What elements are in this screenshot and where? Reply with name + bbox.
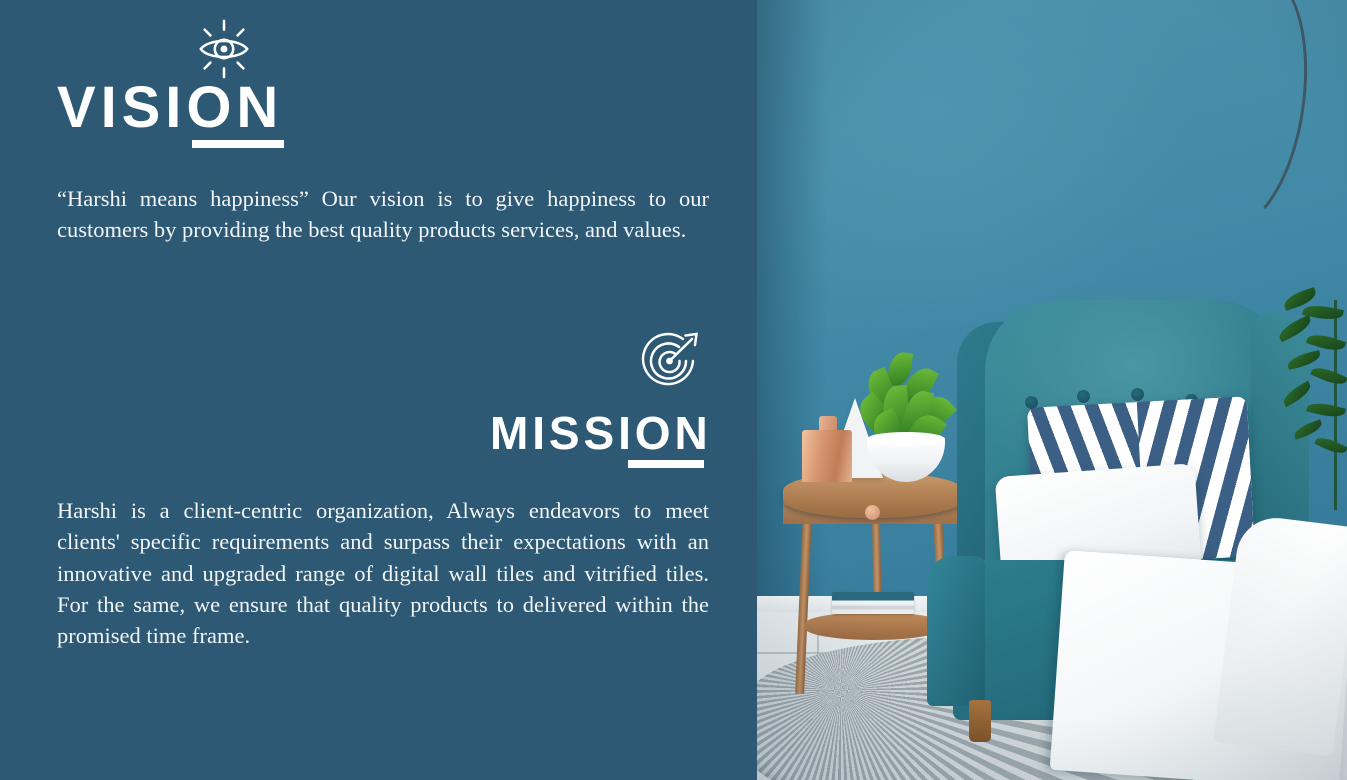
copper-vase bbox=[802, 430, 852, 482]
table-lower-shelf bbox=[805, 612, 943, 640]
drawer-knob bbox=[865, 505, 880, 520]
chair-arm bbox=[927, 556, 985, 706]
text-panel: VISION “Harshi means happiness” Our visi… bbox=[0, 0, 757, 780]
mission-underline-rule bbox=[628, 460, 704, 468]
plant-pot-rim bbox=[867, 432, 945, 446]
potted-plant-foliage bbox=[861, 352, 953, 444]
vision-heading-group: VISION bbox=[0, 0, 757, 160]
interior-room-photo bbox=[757, 0, 1347, 780]
mission-body-text: Harshi is a client-centric organization,… bbox=[57, 495, 709, 651]
vision-title: VISION bbox=[57, 79, 283, 137]
vision-body-text: “Harshi means happiness” Our vision is t… bbox=[57, 183, 709, 246]
chair-leg bbox=[969, 700, 991, 742]
vision-section: VISION “Harshi means happiness” Our visi… bbox=[0, 0, 757, 160]
stacked-books bbox=[832, 592, 914, 614]
mission-title: MISSION bbox=[490, 410, 712, 456]
ficus-plant bbox=[1273, 292, 1347, 522]
target-icon bbox=[637, 331, 703, 393]
vision-underline-rule bbox=[192, 140, 284, 148]
slide-root: VISION “Harshi means happiness” Our visi… bbox=[0, 0, 1347, 780]
eye-icon bbox=[193, 19, 255, 79]
